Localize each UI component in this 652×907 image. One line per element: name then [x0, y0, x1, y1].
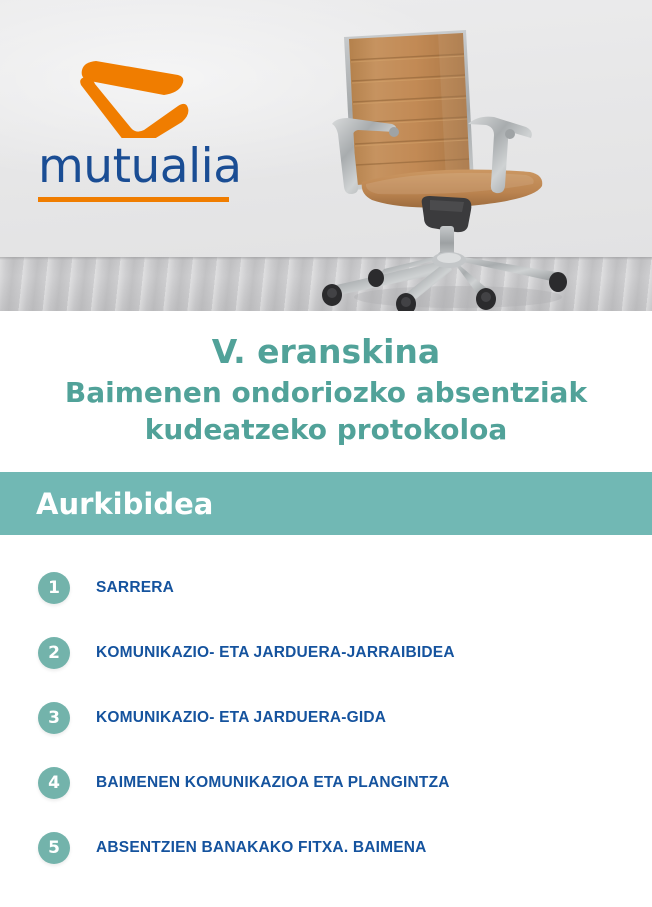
- toc-entry-label: SARRERA: [96, 579, 174, 597]
- toc-header-bar: Aurkibidea: [0, 472, 652, 535]
- toc-entry-label: BAIMENEN KOMUNIKAZIOA ETA PLANGINTZA: [96, 774, 450, 792]
- office-chair-illustration: [318, 14, 586, 311]
- toc-number-badge: 1: [38, 572, 70, 604]
- document-title: V. eranskina: [26, 331, 626, 373]
- toc-entry-3[interactable]: 3 KOMUNIKAZIO- ETA JARDUERA-GIDA: [0, 685, 652, 750]
- toc-entry-label: KOMUNIKAZIO- ETA JARDUERA-GIDA: [96, 709, 386, 727]
- title-block: V. eranskina Baimenen ondoriozko absentz…: [0, 311, 652, 472]
- logo-underline-rule: [38, 197, 229, 202]
- mutualia-logo: mutualia: [36, 56, 236, 202]
- toc-number-badge: 3: [38, 702, 70, 734]
- toc-entry-label: ABSENTZIEN BANAKAKO FITXA. BAIMENA: [96, 839, 427, 857]
- mutualia-wordmark: mutualia: [38, 140, 236, 194]
- toc-number-badge: 5: [38, 832, 70, 864]
- toc-entry-1[interactable]: 1 SARRERA: [0, 555, 652, 620]
- toc-number-badge: 4: [38, 767, 70, 799]
- toc-list: 1 SARRERA 2 KOMUNIKAZIO- ETA JARDUERA-JA…: [0, 535, 652, 880]
- document-subtitle: Baimenen ondoriozko absentziak kudeatzek…: [26, 374, 626, 448]
- toc-entry-2[interactable]: 2 KOMUNIKAZIO- ETA JARDUERA-JARRAIBIDEA: [0, 620, 652, 685]
- toc-entry-5[interactable]: 5 ABSENTZIEN BANAKAKO FITXA. BAIMENA: [0, 815, 652, 880]
- toc-heading: Aurkibidea: [36, 488, 213, 520]
- document-page: mutualia V. eranskina Baimenen ondoriozk…: [0, 0, 652, 907]
- toc-number-badge: 2: [38, 637, 70, 669]
- toc-entry-4[interactable]: 4 BAIMENEN KOMUNIKAZIOA ETA PLANGINTZA: [0, 750, 652, 815]
- mutualia-swoosh-icon: [74, 56, 194, 138]
- toc-entry-label: KOMUNIKAZIO- ETA JARDUERA-JARRAIBIDEA: [96, 644, 455, 662]
- hero-photo: mutualia: [0, 0, 652, 311]
